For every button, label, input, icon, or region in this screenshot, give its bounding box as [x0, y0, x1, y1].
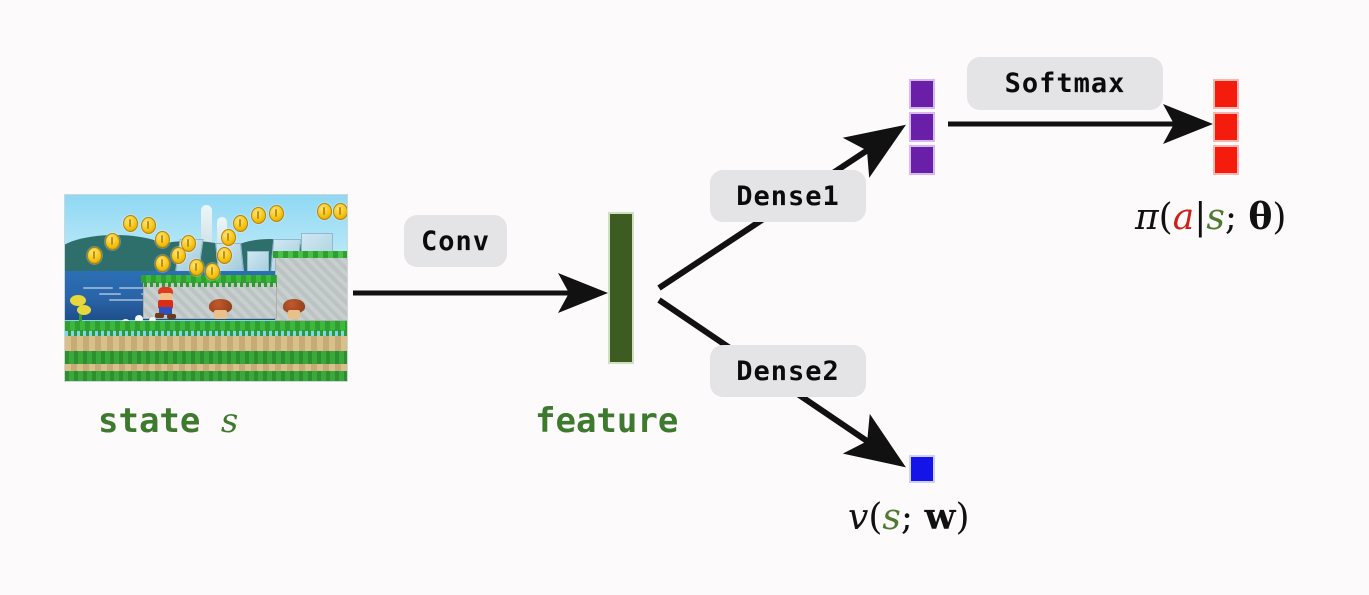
formula-action: a — [1173, 197, 1194, 238]
water-highlight — [83, 287, 113, 289]
chip-dense2[interactable]: Dense2 — [710, 345, 866, 397]
water-highlight — [119, 287, 145, 289]
coin-icon — [221, 229, 236, 246]
coin-icon — [105, 233, 120, 250]
coin-icon — [251, 207, 266, 224]
state-caption: state s — [98, 401, 238, 441]
chip-dense1-label: Dense1 — [736, 181, 840, 212]
state-caption-symbol: s — [221, 401, 238, 441]
water-highlight — [99, 293, 121, 295]
formula-bar: | — [1194, 197, 1206, 238]
value-output-block — [909, 455, 935, 483]
super-mario-game-frame — [64, 194, 348, 382]
coin-icon — [155, 255, 170, 272]
formula-semicolon: ; — [901, 497, 925, 538]
formula-v: v — [848, 497, 868, 538]
mario-shoe — [167, 314, 176, 319]
formula-state: s — [1206, 197, 1224, 238]
coin-icon — [205, 263, 220, 280]
formula-pi: π — [1135, 197, 1159, 238]
coin-icon — [333, 203, 348, 220]
formula-state: s — [882, 497, 900, 538]
ground-bush — [65, 371, 347, 382]
goomba-body — [288, 310, 300, 319]
mario-shoe — [155, 313, 164, 318]
coin-icon — [155, 231, 170, 248]
feature-vector-bar — [608, 212, 634, 364]
policy-unit-block — [909, 79, 935, 109]
ground-dirt — [65, 336, 347, 352]
policy-unit-block — [909, 112, 935, 142]
diagram-canvas: Conv Dense1 Dense2 Softmax state s featu… — [0, 0, 1369, 595]
formula-theta: θ — [1248, 196, 1272, 238]
formula-w: w — [924, 496, 955, 538]
cliff-grass — [273, 251, 348, 258]
ground-bush — [65, 351, 347, 365]
state-caption-text: state — [98, 401, 221, 441]
goomba-body — [214, 310, 227, 319]
plant-icon — [77, 305, 91, 315]
formula-open-paren: ( — [868, 497, 882, 538]
chip-dense2-label: Dense2 — [736, 356, 840, 387]
coin-icon — [269, 205, 284, 222]
water-highlight — [109, 299, 143, 301]
feature-caption: feature — [535, 401, 678, 441]
chip-softmax[interactable]: Softmax — [967, 57, 1163, 110]
coin-icon — [233, 215, 248, 232]
coin-icon — [217, 247, 232, 264]
softmax-output-block — [1213, 112, 1239, 142]
policy-unit-block — [909, 145, 935, 175]
coin-icon — [87, 247, 102, 264]
chip-conv-label: Conv — [421, 226, 490, 257]
formula-open-paren: ( — [1159, 197, 1173, 238]
policy-formula: π(a|s; θ) — [1135, 196, 1286, 238]
coin-icon — [123, 215, 138, 232]
feature-caption-text: feature — [535, 401, 678, 441]
coin-icon — [189, 259, 204, 276]
chip-conv[interactable]: Conv — [404, 215, 507, 267]
coin-icon — [181, 235, 196, 252]
softmax-output-block — [1213, 79, 1239, 109]
coin-icon — [317, 203, 332, 220]
softmax-output-block — [1213, 145, 1239, 175]
formula-close-paren: ) — [1272, 197, 1286, 238]
formula-close-paren: ) — [955, 497, 969, 538]
formula-semicolon: ; — [1225, 197, 1249, 238]
value-formula: v(s; w) — [848, 496, 970, 538]
chip-softmax-label: Softmax — [1005, 68, 1126, 99]
chip-dense1[interactable]: Dense1 — [710, 170, 866, 222]
coin-icon — [141, 217, 156, 234]
